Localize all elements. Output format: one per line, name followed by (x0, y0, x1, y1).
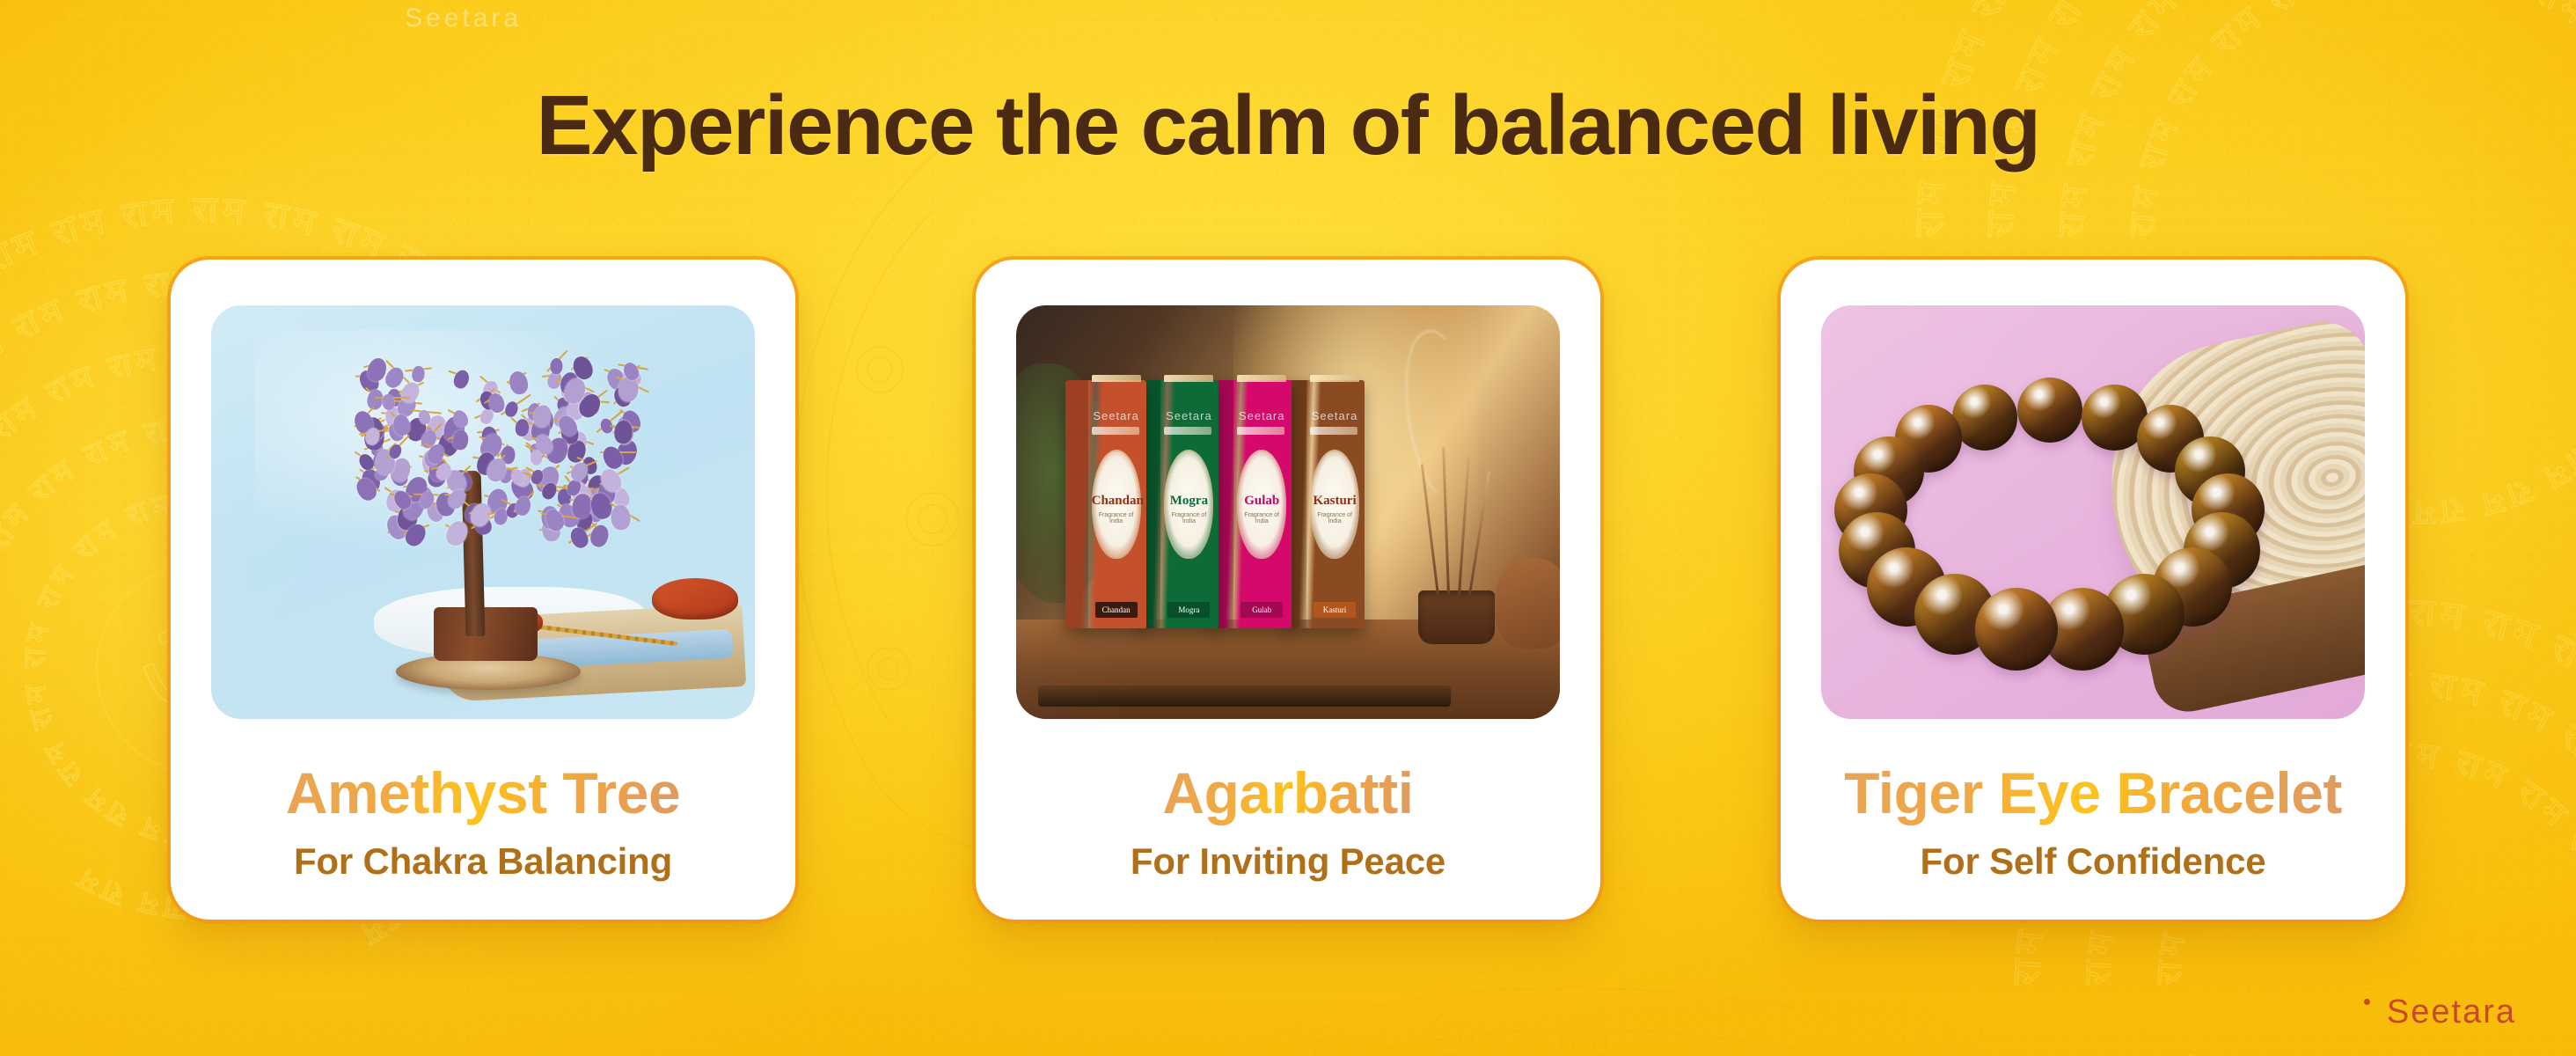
box-top-cap (1237, 375, 1286, 382)
product-card-agarbatti[interactable]: SeetaraChandanFragrance of IndiaChandanS… (976, 260, 1600, 920)
incense-box-chandan: SeetaraChandanFragrance of IndiaChandan (1065, 380, 1146, 628)
card-subtitle: For Inviting Peace (1131, 840, 1445, 883)
box-tagline: Fragrance of India (1164, 512, 1213, 524)
box-footer-tab: Gulab (1240, 602, 1283, 618)
amethyst-tree-photo (211, 305, 755, 719)
amethyst-bead (550, 357, 563, 374)
incense-box-mogra: SeetaraMograFragrance of IndiaMogra (1138, 380, 1218, 628)
diya-lamp-right (652, 578, 739, 620)
incense-holder (1418, 590, 1495, 644)
box-brand-text: Seetara (1310, 409, 1359, 422)
box-spine (1065, 380, 1088, 628)
card-subtitle: For Chakra Balancing (294, 840, 672, 883)
wooden-tray (1038, 686, 1452, 707)
box-tagline: Fragrance of India (1310, 512, 1359, 524)
box-footer-tab: Kasturi (1314, 602, 1356, 618)
tiger-eye-bead (1975, 588, 2058, 671)
brand-watermark-top: Seetara (405, 4, 522, 33)
box-flavour-name: Kasturi (1310, 494, 1359, 509)
tree-pot (434, 607, 537, 661)
box-tagline: Fragrance of India (1237, 512, 1286, 524)
box-brand-text: Seetara (1237, 409, 1286, 422)
box-brand-text: Seetara (1092, 409, 1141, 422)
box-gold-strip (1310, 427, 1358, 435)
box-top-cap (1092, 375, 1141, 382)
card-title: Amethyst Tree (286, 759, 680, 826)
amethyst-bead (411, 365, 425, 383)
box-footer-tab: Chandan (1095, 602, 1138, 618)
box-top-cap (1310, 375, 1359, 382)
amethyst-bead (610, 504, 631, 531)
card-title: Agarbatti (1162, 759, 1413, 826)
incense-box-kasturi: SeetaraKasturiFragrance of IndiaKasturi (1284, 380, 1365, 628)
product-card-tiger-eye-bracelet[interactable]: Tiger Eye Bracelet For Self Confidence (1781, 260, 2405, 920)
brand-logo[interactable]: Seetara (2387, 994, 2516, 1031)
box-brand-text: Seetara (1164, 409, 1213, 422)
tiger-eye-bead (2017, 378, 2082, 443)
box-footer-tab: Mogra (1167, 602, 1210, 618)
card-subtitle: For Self Confidence (1921, 840, 2266, 883)
brand-logo-text: Seetara (2387, 994, 2516, 1030)
amethyst-bead (508, 370, 531, 397)
box-flavour-name: Gulab (1237, 494, 1286, 509)
agarbatti-boxes-photo: SeetaraChandanFragrance of IndiaChandanS… (1016, 305, 1560, 719)
box-gold-strip (1237, 427, 1284, 435)
card-title: Tiger Eye Bracelet (1844, 759, 2342, 826)
product-card-row: Amethyst Tree For Chakra Balancing Seeta… (0, 260, 2576, 920)
box-top-cap (1164, 375, 1213, 382)
box-gold-strip (1164, 427, 1211, 435)
clay-pot (1495, 558, 1560, 649)
logo-dot (2364, 999, 2370, 1005)
box-flavour-name: Chandan (1092, 494, 1141, 509)
amethyst-bead (451, 368, 472, 391)
product-card-amethyst-tree[interactable]: Amethyst Tree For Chakra Balancing (171, 260, 795, 920)
amethyst-canopy (341, 330, 640, 537)
tiger-eye-bracelet-photo (1821, 305, 2365, 719)
box-flavour-name: Mogra (1164, 494, 1213, 509)
box-gold-strip (1092, 427, 1139, 435)
incense-box-gulab: SeetaraGulabFragrance of IndiaGulab (1211, 380, 1292, 628)
box-tagline: Fragrance of India (1092, 512, 1141, 524)
page-headline: Experience the calm of balanced living (0, 77, 2576, 174)
